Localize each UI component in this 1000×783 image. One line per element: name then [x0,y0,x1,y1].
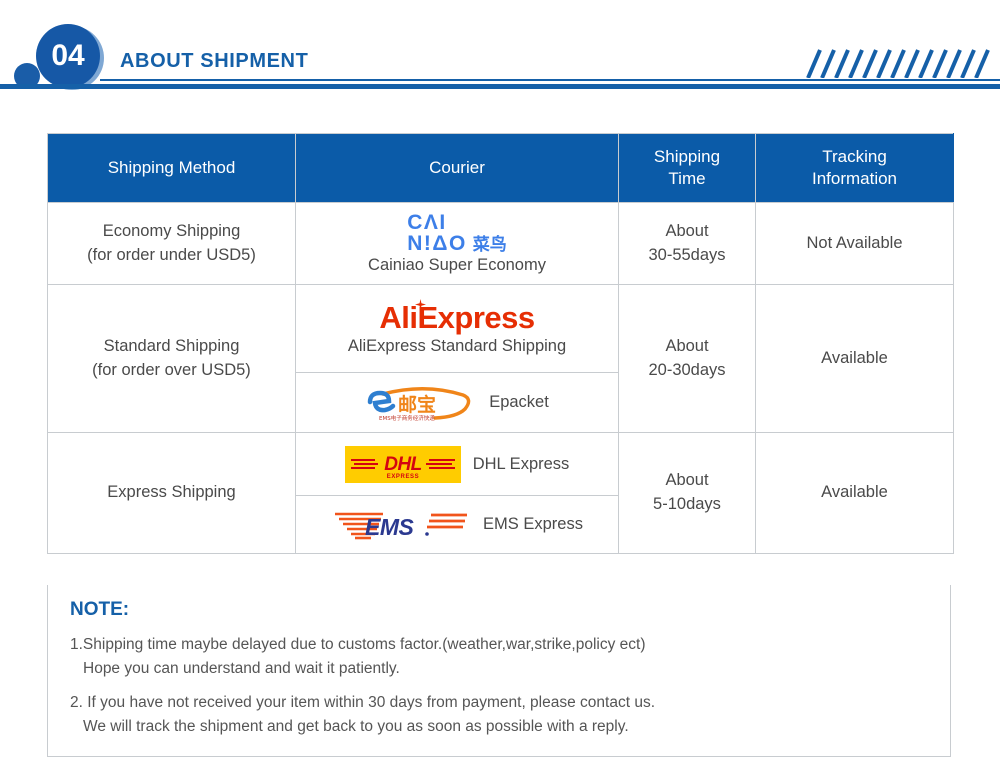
table-row: Economy Shipping (for order under USD5) … [48,203,954,285]
method-line2: (for order over USD5) [52,359,291,383]
cell-tracking: Not Available [756,203,954,285]
dhl-logo: DHL EXPRESS [345,446,461,483]
method-line1: Economy Shipping [52,220,291,244]
time-line2: 20-30days [620,359,754,383]
svg-text:EXPRESS: EXPRESS [386,474,419,480]
header-tracking-information: Tracking Information [756,134,954,203]
table-row: Express Shipping [48,433,954,496]
page-title: ABOUT SHIPMENT [120,50,308,73]
sparkle-icon [415,299,426,310]
aliexpress-logo: AliExpress [379,301,534,335]
cell-shipping-time: About 30-55days [619,203,756,285]
note-item: 2. If you have not received your item wi… [70,691,930,739]
courier-aliexpress: AliExpress AliExpress Standard Shipping [300,301,614,356]
svg-text:EMS: EMS [365,514,415,540]
courier-label-epacket: Epacket [489,393,549,412]
table-header-row: Shipping Method Courier Shipping Time Tr… [48,134,954,203]
shipping-table-container: Shipping Method Courier Shipping Time Tr… [47,133,953,554]
method-line1: Standard Shipping [52,335,291,359]
header-shipping-time-line1: Shipping [620,146,754,168]
note-item-line2: Hope you can understand and wait it pati… [70,657,930,681]
courier-label-aliexpress: AliExpress Standard Shipping [348,337,566,356]
header-shipping-time: Shipping Time [619,134,756,203]
courier-label-cainiao: Cainiao Super Economy [368,256,546,275]
cell-courier-aliexpress: AliExpress AliExpress Standard Shipping [296,285,619,373]
cell-tracking: Available [756,285,954,433]
banner-number-badge: 04 [36,24,100,88]
header-courier: Courier [296,134,619,203]
cell-shipping-method: Economy Shipping (for order under USD5) [48,203,296,285]
courier-epacket: 邮宝 EMS电子商务经济快递 Epacket [300,384,614,422]
cell-shipping-method: Standard Shipping (for order over USD5) [48,285,296,433]
ems-logo: EMS [331,507,471,543]
section-banner: 04 ABOUT SHIPMENT [0,0,1000,110]
cell-shipping-method: Express Shipping [48,433,296,554]
header-tracking-line2: Information [757,168,952,190]
svg-text:DHL: DHL [384,454,422,475]
table-row: Standard Shipping (for order over USD5) … [48,285,954,373]
note-item-line1: 2. If you have not received your item wi… [70,691,930,715]
header-shipping-method: Shipping Method [48,134,296,203]
courier-label-ems: EMS Express [483,515,583,534]
cell-tracking: Available [756,433,954,554]
time-line1: About [620,335,754,359]
note-section: NOTE: 1.Shipping time maybe delayed due … [47,585,951,757]
courier-cainiao: CΛI N!ΔO 菜鸟 Cainiao Super Economy [300,212,614,276]
note-item-line1: 1.Shipping time maybe delayed due to cus… [70,633,930,657]
cell-shipping-time: About 5-10days [619,433,756,554]
svg-text:EMS电子商务经济快递: EMS电子商务经济快递 [379,414,435,422]
time-line1: About [620,220,754,244]
cell-shipping-time: About 20-30days [619,285,756,433]
svg-text:邮宝: 邮宝 [398,393,436,416]
epacket-logo: 邮宝 EMS电子商务经济快递 [365,384,477,422]
courier-ems: EMS EMS Express [300,507,614,543]
banner-rule-thin [100,79,1000,81]
banner-number-label: 04 [51,41,84,71]
banner-rule-thick [0,84,1000,89]
note-title: NOTE: [70,599,930,621]
time-line1: About [620,469,754,493]
cell-courier-dhl: DHL EXPRESS DHL Express [296,433,619,496]
cell-courier-ems: EMS EMS Express [296,496,619,554]
time-line2: 30-55days [620,244,754,268]
cell-courier-epacket: 邮宝 EMS电子商务经济快递 Epacket [296,373,619,433]
courier-dhl: DHL EXPRESS DHL Express [300,446,614,483]
time-line2: 5-10days [620,493,754,517]
cell-courier-cainiao: CΛI N!ΔO 菜鸟 Cainiao Super Economy [296,203,619,285]
shipping-table: Shipping Method Courier Shipping Time Tr… [47,133,954,554]
method-line2: (for order under USD5) [52,244,291,268]
cainiao-logo-line2: N!ΔO [407,233,467,254]
aliexpress-logo-text: AliExpress [379,300,534,335]
cainiao-logo-line1: CΛI [407,212,507,233]
header-shipping-time-line2: Time [620,168,754,190]
note-item: 1.Shipping time maybe delayed due to cus… [70,633,930,681]
note-item-line2: We will track the shipment and get back … [70,715,930,739]
diagonal-stripes-decoration [800,48,1000,78]
courier-label-dhl: DHL Express [473,455,570,474]
cainiao-logo: CΛI N!ΔO 菜鸟 [407,212,507,255]
cainiao-logo-chinese: 菜鸟 [473,236,507,253]
header-tracking-line1: Tracking [757,146,952,168]
method-line1: Express Shipping [52,481,291,505]
